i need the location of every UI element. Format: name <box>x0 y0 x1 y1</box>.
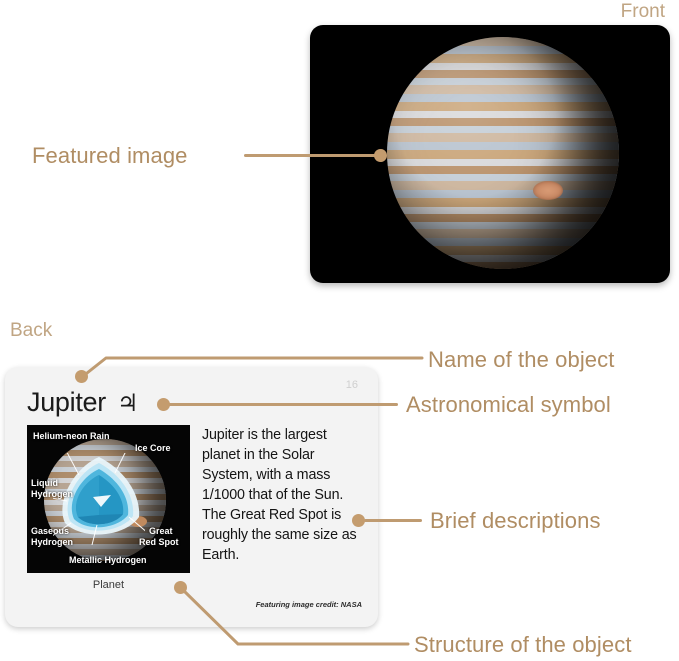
jupiter-photo <box>387 37 619 269</box>
connector-name-of-object <box>0 340 440 390</box>
back-section-label: Back <box>10 320 52 342</box>
connector-dot-astronomical-symbol <box>157 398 170 411</box>
astronomical-symbol-glyph: ♃ <box>117 389 139 417</box>
connector-astronomical-symbol <box>166 403 398 406</box>
diagram-label-gaseous-hydrogen: Hydrogen <box>31 537 73 548</box>
diagram-label-liquid-hydrogen: Hydrogen <box>31 489 73 500</box>
card-title-row: Jupiter ♃ <box>27 387 138 418</box>
connector-dot-name-of-object <box>75 370 88 383</box>
diagram-label-ice-core: Ice Core <box>135 443 171 454</box>
diagram-label-helium-neon-rain: Helium-neon Rain <box>33 431 110 442</box>
annotation-structure-of-object: Structure of the object <box>414 632 632 658</box>
diagram-label-liquid: Liquid <box>31 478 58 489</box>
annotation-featured-image: Featured image <box>32 143 188 169</box>
annotation-brief-descriptions: Brief descriptions <box>430 508 601 534</box>
connector-featured-image <box>244 154 384 157</box>
annotation-astronomical-symbol: Astronomical symbol <box>406 392 611 418</box>
connector-dot-structure-of-object <box>174 581 187 594</box>
connector-dot-featured-image <box>374 149 387 162</box>
diagram-label-great: Great <box>149 526 173 537</box>
card-title: Jupiter <box>27 387 106 418</box>
annotation-name-of-object: Name of the object <box>428 347 614 373</box>
diagram-label-red-spot: Red Spot <box>139 537 179 548</box>
connector-dot-brief-descriptions <box>352 514 365 527</box>
structure-diagram: Helium-neon Rain Ice Core Liquid Hydroge… <box>27 425 190 573</box>
card-description: Jupiter is the largest planet in the Sol… <box>202 425 362 565</box>
page-root: Front Back Featured image 16 Jupiter ♃ <box>0 0 679 661</box>
diagram-label-gaseous: Gaseous <box>31 526 69 537</box>
diagram-label-metallic-hydrogen: Metallic Hydrogen <box>69 555 147 566</box>
front-section-label: Front <box>621 1 665 23</box>
connector-brief-descriptions <box>364 519 422 522</box>
connector-structure-of-object <box>0 575 440 655</box>
planet-shading <box>387 37 619 269</box>
